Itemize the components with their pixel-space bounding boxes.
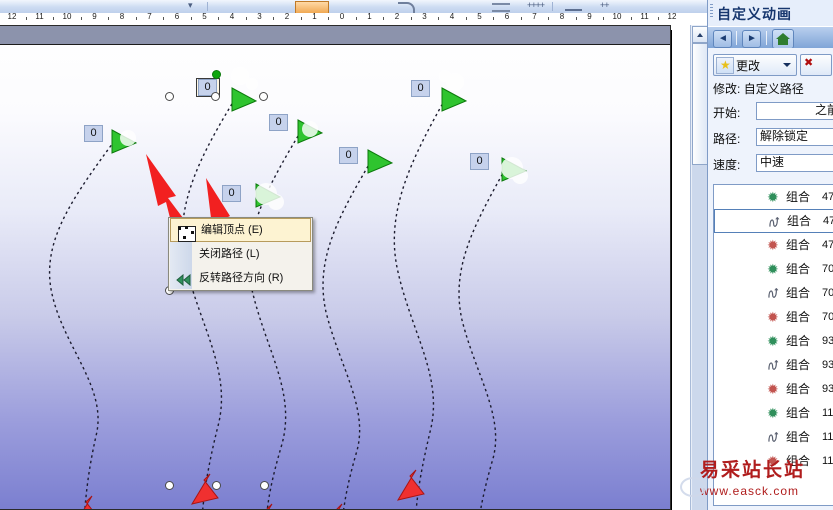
ruler-tick xyxy=(273,17,274,20)
remove-x-icon: ✖ xyxy=(804,58,813,69)
arrow-style-icon[interactable] xyxy=(398,2,415,13)
star-icon: ★ xyxy=(716,57,734,74)
list-item-number: 116 xyxy=(822,449,833,473)
list-item-label: 组合 xyxy=(786,281,810,305)
path-dropdown[interactable]: 解除锁定 xyxy=(756,128,833,146)
ruler-tick xyxy=(328,17,329,20)
extra-tool-icon[interactable]: ++ xyxy=(600,0,609,11)
ruler-tick-label: 2 xyxy=(395,13,399,21)
ruler-tick-label: 5 xyxy=(477,13,481,21)
ruler-tick xyxy=(136,17,137,20)
ruler-tick xyxy=(631,17,632,20)
edit-points-icon xyxy=(174,222,192,238)
ruler-tick-label: 12 xyxy=(8,13,17,21)
list-item-number: 47 xyxy=(822,185,833,209)
ruler-tick xyxy=(383,17,384,20)
star-red-icon: ✹ xyxy=(766,381,782,397)
list-item-number: 47 xyxy=(823,210,833,232)
ruler-tick xyxy=(246,17,247,20)
modify-label: 修改: xyxy=(713,82,740,96)
watermark-disc xyxy=(680,477,706,497)
ruler-tick-label: 2 xyxy=(285,13,289,21)
ruler-tick xyxy=(521,17,522,20)
list-item-number: 93 xyxy=(822,353,833,377)
slide-editing-area[interactable]: 0 0 0 0 0 0 0 xyxy=(0,25,690,510)
star-green-icon: ✹ xyxy=(766,189,782,205)
ruler-tick-label: 3 xyxy=(422,13,426,21)
shadow-style-icon[interactable] xyxy=(492,3,510,12)
list-item-number: 116 xyxy=(822,401,833,425)
list-item-number: 93 xyxy=(822,329,833,353)
vertical-scrollbar[interactable] xyxy=(690,25,708,510)
change-button[interactable]: ★ 更改 xyxy=(713,54,797,76)
list-item-number: 70 xyxy=(822,305,833,329)
speed-label: 速度: xyxy=(713,156,740,173)
task-pane-navbar[interactable]: ◄ ► xyxy=(708,26,833,49)
task-pane-body: ★ 更改 ✖ 修改: 自定义路径 开始: 之前 路径: 解除锁定 速度: 中速 … xyxy=(708,48,833,510)
list-item-label: 组合 xyxy=(786,425,810,449)
path-label: 路径: xyxy=(713,130,740,147)
ruler-tick-label: 10 xyxy=(63,13,72,21)
custom-animation-task-pane[interactable]: 自定义动画 ◄ ► ★ 更改 ✖ 修改: 自定义 xyxy=(707,0,833,510)
modify-line: 修改: 自定义路径 xyxy=(713,80,804,97)
list-item[interactable]: ✹组合93 xyxy=(714,377,833,401)
list-item-label: 组合 xyxy=(786,329,810,353)
list-item[interactable]: 组合70 xyxy=(714,281,833,305)
ruler-tick-label: 7 xyxy=(532,13,536,21)
ruler-tick-label: 6 xyxy=(505,13,509,21)
ruler-tick xyxy=(191,17,192,20)
watermark-text: 易采站长站 xyxy=(700,455,805,482)
watermark-url: www.easck.com xyxy=(700,484,805,498)
menu-item-reverse-path[interactable]: 反转路径方向 (R) xyxy=(169,266,312,290)
annotation-pointer-arrows xyxy=(0,26,670,509)
ruler-tick xyxy=(658,17,659,20)
ruler-tick xyxy=(26,17,27,20)
toolbar-separator xyxy=(207,2,208,11)
ruler-tick xyxy=(356,17,357,20)
list-item-number: 116 xyxy=(822,425,833,449)
list-item-label: 组合 xyxy=(786,305,810,329)
ruler-tick xyxy=(548,17,549,20)
list-item-number: 70 xyxy=(822,257,833,281)
ruler-tick xyxy=(493,17,494,20)
list-item[interactable]: ✹组合47 xyxy=(714,233,833,257)
ruler-tick xyxy=(411,17,412,20)
list-item[interactable]: 组合116 xyxy=(714,425,833,449)
chevron-up-icon xyxy=(697,33,703,37)
ruler-tick-label: 3 xyxy=(257,13,261,21)
ruler-tick-label: 1 xyxy=(367,13,371,21)
underline-icon[interactable] xyxy=(565,1,582,11)
motion-path-icon xyxy=(766,429,782,445)
change-button-label: 更改 xyxy=(736,57,760,74)
list-item[interactable]: 组合47 xyxy=(714,209,833,233)
ruler-tick-label: 8 xyxy=(560,13,564,21)
ruler-tick xyxy=(576,17,577,20)
nav-separator xyxy=(736,31,737,45)
ruler-tick-label: 10 xyxy=(613,13,622,21)
menu-item-label: 反转路径方向 (R) xyxy=(199,272,283,284)
start-label: 开始: xyxy=(713,104,740,121)
speed-dropdown[interactable]: 中速 xyxy=(756,154,833,172)
ruler-tick xyxy=(53,17,54,20)
menu-item-close-path[interactable]: 关闭路径 (L) xyxy=(169,242,312,266)
list-item[interactable]: ✹组合116 xyxy=(714,401,833,425)
ruler-tick-label: 4 xyxy=(450,13,454,21)
list-item[interactable]: ✹组合70 xyxy=(714,305,833,329)
motion-path-icon xyxy=(766,357,782,373)
list-item[interactable]: ✹组合47 xyxy=(714,185,833,209)
start-dropdown[interactable]: 之前 xyxy=(756,102,833,120)
menu-item-edit-points[interactable]: 编辑顶点 (E) xyxy=(170,218,311,242)
3d-style-icon[interactable]: ++++ xyxy=(527,0,544,11)
ruler-tick-label: 9 xyxy=(587,13,591,21)
menu-item-label: 编辑顶点 (E) xyxy=(201,224,263,236)
list-item-number: 47 xyxy=(822,233,833,257)
watermark: 易采站长站 www.easck.com xyxy=(700,455,805,498)
ruler-tick-label: 6 xyxy=(175,13,179,21)
ruler-tick-label: 9 xyxy=(92,13,96,21)
context-menu[interactable]: 编辑顶点 (E) 关闭路径 (L) 反转路径方向 (R) xyxy=(168,217,313,291)
forward-icon[interactable]: ► xyxy=(742,30,761,48)
ruler-tick-label: 5 xyxy=(202,13,206,21)
ruler-tick xyxy=(163,17,164,20)
task-pane-title: 自定义动画 xyxy=(717,4,792,24)
list-item-number: 70 xyxy=(822,281,833,305)
change-row: ★ 更改 xyxy=(713,54,797,76)
motion-path-icon xyxy=(766,285,782,301)
home-icon[interactable] xyxy=(772,29,794,49)
ruler-tick-label: 11 xyxy=(35,13,43,21)
ruler-tick-label: 11 xyxy=(640,13,648,21)
list-item-label: 组合 xyxy=(786,257,810,281)
reverse-arrow-icon xyxy=(172,269,190,285)
list-item[interactable]: ✹组合70 xyxy=(714,257,833,281)
ruler-tick-label: 7 xyxy=(147,13,151,21)
star-red-icon: ✹ xyxy=(766,309,782,325)
ruler-tick xyxy=(108,17,109,20)
star-green-icon: ✹ xyxy=(766,405,782,421)
list-item-label: 组合 xyxy=(786,353,810,377)
slide-canvas[interactable]: 0 0 0 0 0 0 0 xyxy=(0,25,671,510)
star-green-icon: ✹ xyxy=(766,261,782,277)
list-item-label: 组合 xyxy=(786,185,810,209)
motion-path-icon xyxy=(767,214,783,230)
ruler-tick xyxy=(466,17,467,20)
chevron-down-icon[interactable] xyxy=(783,63,791,67)
pane-grip[interactable] xyxy=(710,4,713,18)
ruler-tick-label: 8 xyxy=(120,13,124,21)
small-tool-icon[interactable]: ▾ xyxy=(188,0,192,11)
back-icon[interactable]: ◄ xyxy=(713,30,732,48)
list-item-number: 93 xyxy=(822,377,833,401)
list-item[interactable]: ✹组合93 xyxy=(714,329,833,353)
ruler-tick xyxy=(81,17,82,20)
menu-item-label: 关闭路径 (L) xyxy=(199,248,260,260)
ruler-tick xyxy=(603,17,604,20)
ruler-tick-label: 4 xyxy=(230,13,234,21)
modify-value: 自定义路径 xyxy=(744,82,804,96)
list-item-label: 组合 xyxy=(786,401,810,425)
toolbar-separator-2 xyxy=(552,2,553,11)
list-item-label: 组合 xyxy=(786,233,810,257)
ruler-tick-label: 0 xyxy=(340,13,344,21)
ruler-tick xyxy=(301,17,302,20)
list-item-label: 组合 xyxy=(786,377,810,401)
list-item-label: 组合 xyxy=(787,210,811,232)
nav-separator-2 xyxy=(766,31,767,45)
ruler-tick xyxy=(438,17,439,20)
ruler-tick-label: 12 xyxy=(668,13,677,21)
list-item[interactable]: 组合93 xyxy=(714,353,833,377)
star-red-icon: ✹ xyxy=(766,237,782,253)
ruler-tick xyxy=(218,17,219,20)
remove-button[interactable]: ✖ xyxy=(800,54,832,76)
star-green-icon: ✹ xyxy=(766,333,782,349)
ruler-tick-label: 1 xyxy=(312,13,316,21)
